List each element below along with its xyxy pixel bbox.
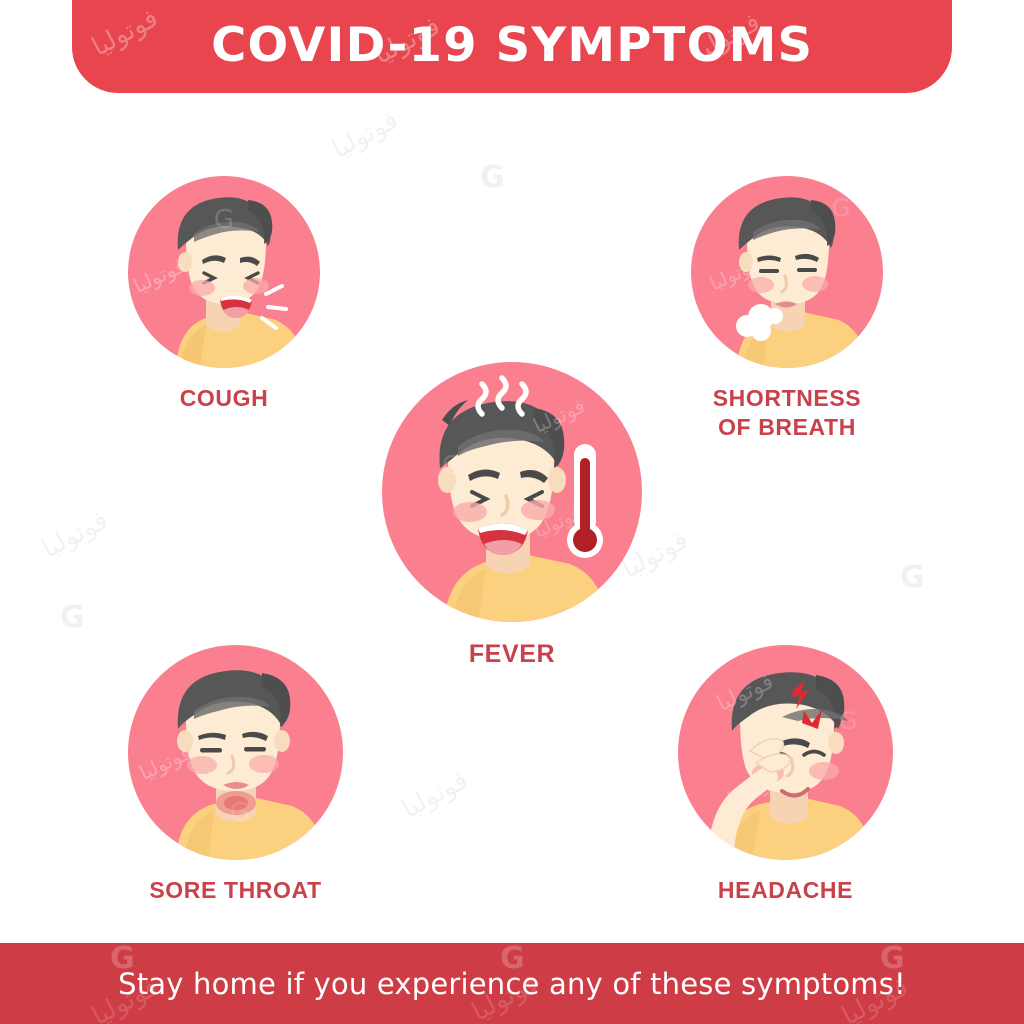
symptom-sore-throat[interactable]: G فوتوليا SORE THROAT	[128, 645, 343, 905]
symptom-cough[interactable]: G فوتوليا COUGH	[128, 176, 320, 413]
headache-figure: فوتوليا G فوتوليا	[678, 645, 893, 860]
symptom-label: SORE THROAT	[128, 876, 343, 905]
header-banner: فوتوليا فوتوليا فوتوليا COVID-19 SYMPTOM…	[72, 0, 952, 93]
sore-throat-figure: G فوتوليا	[128, 645, 343, 860]
footer-banner: فوتوليا فوتوليا فوتوليا G G G Stay home …	[0, 943, 1024, 1024]
symptom-label: FEVER	[382, 638, 642, 670]
watermark-badge: G	[60, 600, 85, 635]
cough-illustration: G فوتوليا	[128, 176, 320, 368]
fever-figure: G فوتوليا فوتوليا	[382, 362, 642, 622]
cough-figure: G فوتوليا	[128, 176, 320, 368]
svg-text:G: G	[442, 451, 462, 481]
svg-text:G: G	[832, 194, 851, 222]
headache-illustration: فوتوليا G فوتوليا	[678, 645, 893, 860]
watermark-script: فوتوليا	[327, 105, 403, 164]
symptom-label: HEADACHE	[678, 876, 893, 905]
page-title: COVID-19 SYMPTOMS	[211, 18, 813, 73]
shortness-of-breath-illustration: G فوتوليا	[691, 176, 883, 368]
svg-text:G: G	[230, 798, 250, 828]
thermometer-icon	[567, 444, 603, 558]
svg-text:G: G	[839, 707, 858, 735]
fever-illustration: G فوتوليا فوتوليا	[382, 362, 642, 622]
svg-text:فوتوليا: فوتوليا	[129, 253, 188, 298]
watermark-script: فوتوليا	[37, 505, 113, 564]
svg-text:فوتوليا: فوتوليا	[135, 740, 194, 785]
symptom-shortness-of-breath[interactable]: G فوتوليا SHORTNESS OF BREATH	[691, 176, 883, 443]
symptom-headache[interactable]: فوتوليا G فوتوليا HEADACHE	[678, 645, 893, 905]
shortness-of-breath-figure: G فوتوليا	[691, 176, 883, 368]
symptom-label: COUGH	[128, 384, 320, 413]
svg-text:G: G	[214, 205, 234, 235]
sore-throat-illustration: G فوتوليا	[128, 645, 343, 860]
symptom-label: SHORTNESS OF BREATH	[691, 384, 883, 443]
covid-symptoms-poster: فوتوليا فوتوليا فوتوليا COVID-19 SYMPTOM…	[0, 0, 1024, 1024]
watermark-script: فوتوليا	[397, 765, 473, 824]
symptom-fever[interactable]: G فوتوليا فوتوليا FEVER	[382, 362, 642, 670]
watermark-badge: G	[900, 560, 925, 595]
footer-message: Stay home if you experience any of these…	[118, 967, 906, 1001]
watermark-badge: G	[480, 160, 505, 195]
watermark-script: فوتوليا	[87, 3, 163, 62]
